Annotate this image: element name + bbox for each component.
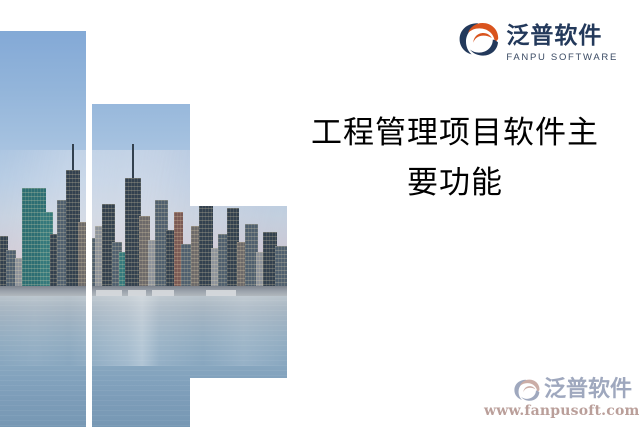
photo-panel-right <box>190 206 287 378</box>
skyline-silhouette <box>0 116 86 296</box>
watermark-url: www.fanpusoft.com <box>484 403 632 419</box>
page-title: 工程管理项目软件主要功能 <box>300 108 610 208</box>
water-ripples <box>92 300 190 427</box>
photo-panel-left <box>0 31 86 427</box>
photo-panel-middle <box>92 104 190 427</box>
brand-name-cn: 泛普软件 <box>506 23 618 49</box>
fanpu-swoosh-watermark-icon <box>514 378 540 402</box>
slide-canvas: 泛普软件 FANPU SOFTWARE 工程管理项目软件主要功能 泛普软件 ww… <box>0 0 640 427</box>
skyline-silhouette <box>92 116 190 296</box>
brand-name-en: FANPU SOFTWARE <box>506 52 618 63</box>
photo-panel-group <box>0 0 290 427</box>
watermark: 泛普软件 www.fanpusoft.com <box>484 378 632 419</box>
page-title-line-2: 功能 <box>439 165 503 201</box>
skyline-silhouette <box>190 206 287 296</box>
watermark-row: 泛普软件 <box>484 378 632 402</box>
photo-content-right <box>190 206 287 378</box>
brand-text: 泛普软件 FANPU SOFTWARE <box>506 22 618 63</box>
water-ripples <box>0 300 86 427</box>
fanpu-swoosh-logo-icon <box>459 22 499 56</box>
photo-content-middle <box>92 104 190 427</box>
water-ripples <box>190 300 287 378</box>
watermark-name-cn: 泛普软件 <box>544 378 632 402</box>
brand-logo: 泛普软件 FANPU SOFTWARE <box>459 22 618 63</box>
photo-content-left <box>0 31 86 427</box>
